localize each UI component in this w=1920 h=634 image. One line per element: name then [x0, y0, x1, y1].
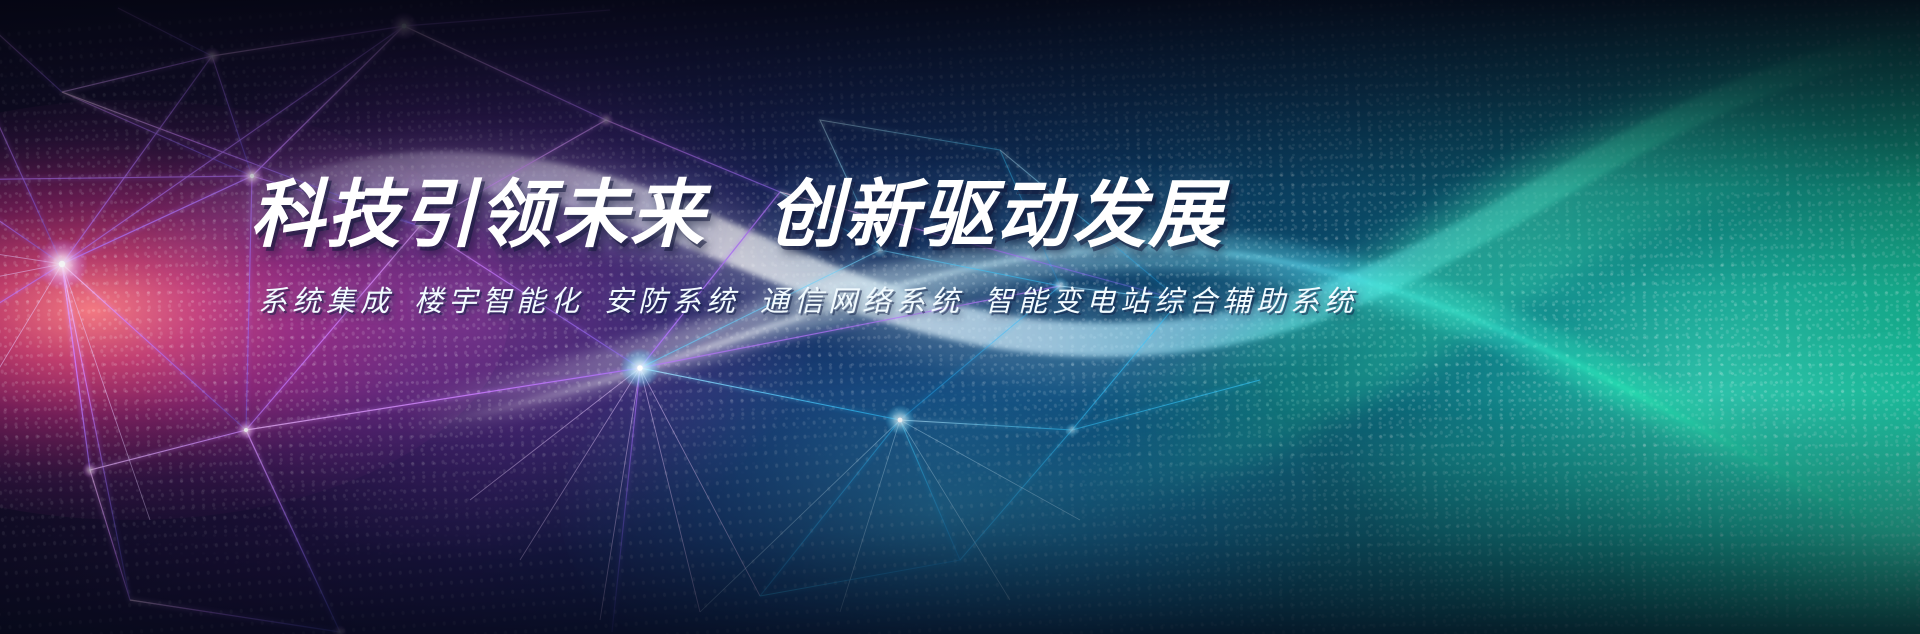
subtitle-list: 系统集成楼宇智能化安防系统通信网络系统智能变电站综合辅助系统 — [258, 278, 1390, 320]
tech-hero-banner: 科技引领未来创新驱动发展 系统集成楼宇智能化安防系统通信网络系统智能变电站综合辅… — [0, 0, 1920, 634]
subtitle-item-2: 安防系统 — [604, 286, 740, 318]
subtitle-item-4: 智能变电站综合辅助系统 — [984, 286, 1358, 318]
headline-part-1: 科技引领未来 — [250, 173, 706, 256]
subtitle-item-3: 通信网络系统 — [760, 286, 964, 318]
subtitle-item-1: 楼宇智能化 — [414, 286, 584, 318]
headline-part-2: 创新驱动发展 — [768, 173, 1224, 256]
page-title: 科技引领未来创新驱动发展 — [250, 178, 1390, 252]
hero-copy: 科技引领未来创新驱动发展 系统集成楼宇智能化安防系统通信网络系统智能变电站综合辅… — [250, 178, 1390, 320]
subtitle-item-0: 系统集成 — [258, 286, 394, 318]
